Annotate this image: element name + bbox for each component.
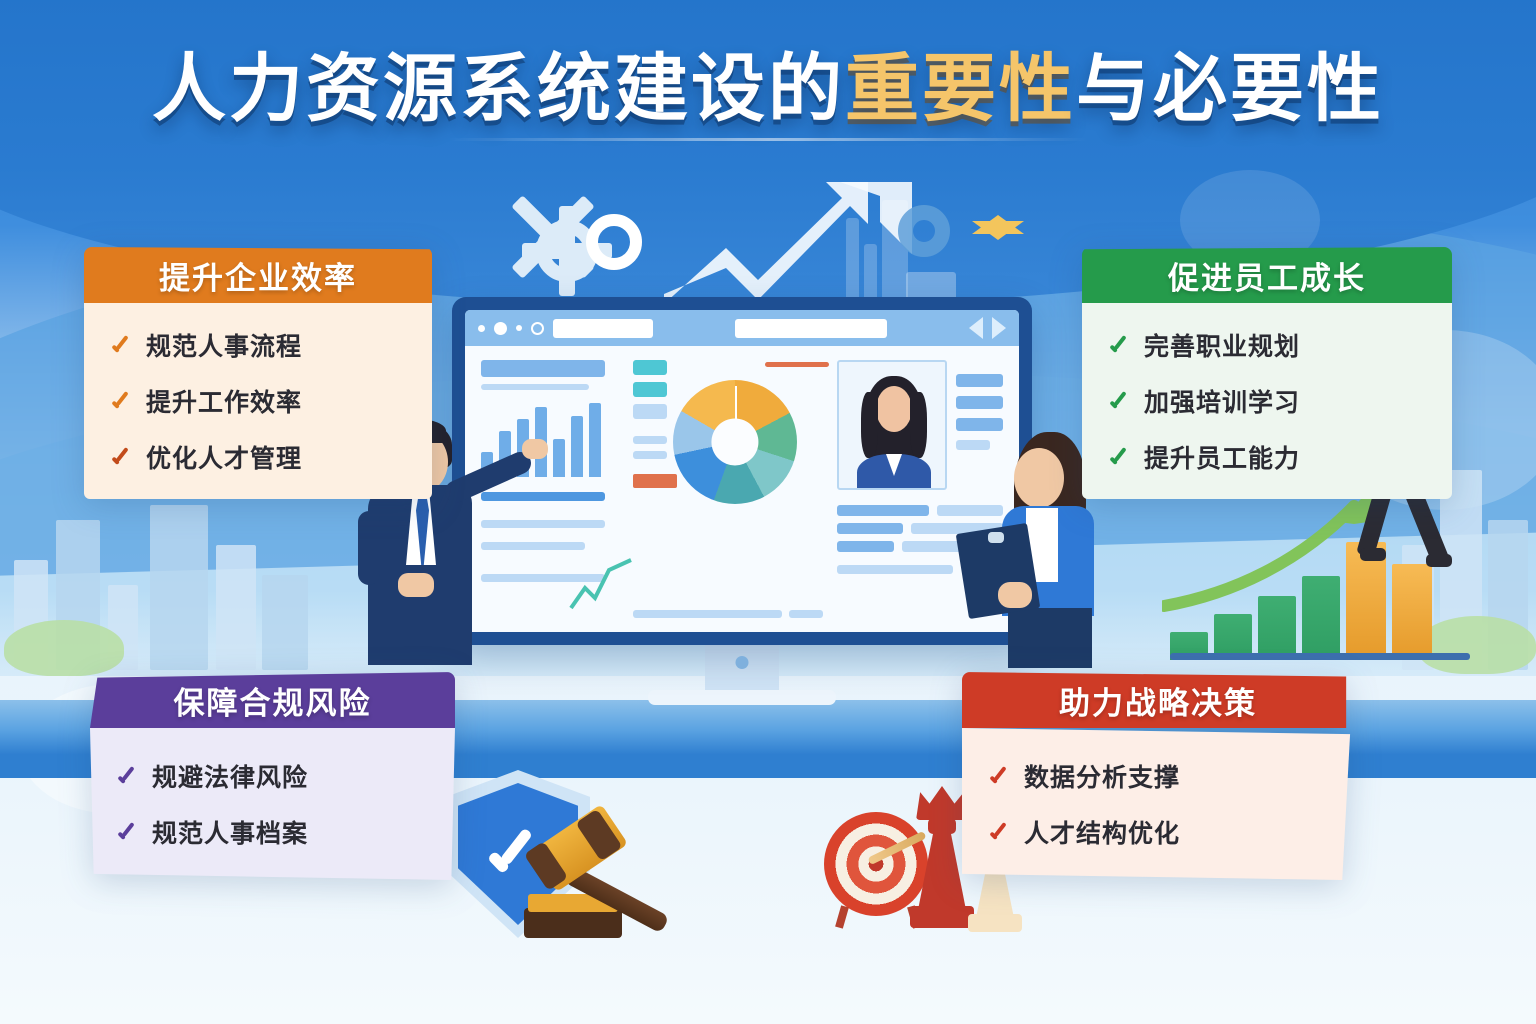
list-item-label: 优化人才管理 xyxy=(146,439,302,475)
card-body: 完善职业规划 加强培训学习 提升员工能力 xyxy=(1082,303,1452,499)
bush-shape xyxy=(4,620,124,676)
target-leg xyxy=(835,905,849,928)
growth-chart-floor xyxy=(1170,653,1470,660)
card-title: 促进员工成长 xyxy=(1168,253,1366,298)
card-bottom-right[interactable]: 助力战略决策 数据分析支撑 人才结构优化 xyxy=(962,672,1354,880)
check-icon xyxy=(1108,390,1130,412)
list-item-label: 提升员工能力 xyxy=(1144,439,1300,475)
card-top-right[interactable]: 促进员工成长 完善职业规划 加强培训学习 提升员工能力 xyxy=(1082,247,1452,499)
bar xyxy=(571,416,583,477)
title-part-2: 与必要性 xyxy=(1076,47,1384,130)
detail-row xyxy=(956,418,1003,431)
list-item-label: 规范人事流程 xyxy=(146,327,302,363)
list-item-label: 规避法律风险 xyxy=(152,758,308,794)
list-item[interactable]: 加强培训学习 xyxy=(1108,383,1426,419)
address-bar[interactable] xyxy=(553,319,653,338)
list-item[interactable]: 提升工作效率 xyxy=(110,383,406,419)
check-icon xyxy=(988,821,1010,843)
avatar-face xyxy=(876,386,912,432)
check-icon xyxy=(116,765,138,787)
chess-queen-neck xyxy=(928,818,956,834)
card-header: 提升企业效率 xyxy=(84,247,432,303)
chess-queen-base xyxy=(910,906,974,928)
card-body: 规范人事流程 提升工作效率 优化人才管理 xyxy=(84,303,432,499)
star-icon xyxy=(972,215,1024,234)
card-title: 保障合规风险 xyxy=(174,678,372,723)
man-pointing-arm xyxy=(442,449,535,507)
check-icon xyxy=(988,765,1010,787)
monitor-power-led xyxy=(736,656,749,669)
nav-forward-icon[interactable] xyxy=(992,317,1006,339)
list-item[interactable]: 规范人事档案 xyxy=(116,814,429,850)
employee-photo-card xyxy=(837,360,947,490)
chip xyxy=(633,436,667,444)
check-icon xyxy=(110,390,132,412)
list-item[interactable]: 数据分析支撑 xyxy=(988,758,1328,794)
list-item-label: 加强培训学习 xyxy=(1144,383,1300,419)
man-hand-pointing xyxy=(522,439,548,459)
card-title: 提升企业效率 xyxy=(159,253,357,298)
woman-skirt xyxy=(1008,608,1092,668)
title-block: 人力资源系统建设的重要性与必要性 xyxy=(0,52,1536,141)
footer-row xyxy=(633,610,782,618)
gear-icon xyxy=(508,192,598,282)
browser-toolbar[interactable] xyxy=(465,310,1019,346)
woman-hand xyxy=(998,582,1032,608)
ring-icon xyxy=(898,205,950,257)
monitor-base xyxy=(648,690,836,705)
window-dot-outline xyxy=(531,322,544,335)
window-dot xyxy=(516,325,522,331)
chess-queen-icon xyxy=(916,786,968,820)
dashboard-center-panel xyxy=(633,360,823,618)
table-row xyxy=(837,505,929,516)
chip xyxy=(633,474,677,488)
search-field[interactable] xyxy=(735,319,887,338)
runner-shoe xyxy=(1360,548,1386,561)
check-icon xyxy=(116,821,138,843)
man-hand-resting xyxy=(398,573,434,597)
list-item-label: 完善职业规划 xyxy=(1144,327,1300,363)
card-bottom-left[interactable]: 保障合规风险 规避法律风险 规范人事档案 xyxy=(90,672,455,880)
list-item-label: 人才结构优化 xyxy=(1024,814,1180,850)
window-dot xyxy=(494,322,507,335)
monitor-display xyxy=(452,297,1032,645)
monitor-screen xyxy=(465,310,1019,632)
target-dart-icon xyxy=(824,812,928,916)
check-icon xyxy=(110,446,132,468)
title-highlight: 重要性 xyxy=(845,47,1076,130)
table-row xyxy=(837,523,903,534)
bar xyxy=(553,439,565,477)
card-top-left[interactable]: 提升企业效率 规范人事流程 提升工作效率 优化人才管理 xyxy=(84,247,432,499)
list-item[interactable]: 人才结构优化 xyxy=(988,814,1328,850)
chess-pawn-base xyxy=(968,914,1022,932)
chip xyxy=(633,404,667,419)
donut-pointer xyxy=(735,386,737,438)
card-header: 保障合规风险 xyxy=(90,672,455,728)
detail-row xyxy=(956,374,1003,387)
growth-bar xyxy=(1302,576,1340,660)
card-body: 数据分析支撑 人才结构优化 xyxy=(962,728,1354,880)
list-item-label: 规范人事档案 xyxy=(152,814,308,850)
woman-head xyxy=(1014,448,1064,508)
list-item[interactable]: 规范人事流程 xyxy=(110,327,406,363)
panel-subtitle-bar xyxy=(481,384,589,390)
bar xyxy=(589,403,601,477)
dashboard-body xyxy=(465,346,1019,632)
list-item-label: 提升工作效率 xyxy=(146,383,302,419)
compliance-illustration xyxy=(440,768,700,943)
table-row xyxy=(837,541,894,552)
chip xyxy=(633,360,667,375)
window-dot xyxy=(478,325,485,332)
growth-bar xyxy=(1258,596,1296,660)
card-body: 规避法律风险 规范人事档案 xyxy=(90,728,455,880)
infographic-canvas: 人力资源系统建设的重要性与必要性 xyxy=(0,0,1536,1024)
list-item[interactable]: 规避法律风险 xyxy=(116,758,429,794)
title-part-1: 人力资源系统建设的 xyxy=(152,47,845,130)
footer-row xyxy=(789,610,823,618)
card-title: 助力战略决策 xyxy=(1059,678,1257,723)
gavel-sound-block xyxy=(524,908,622,938)
runner-shoe xyxy=(1426,554,1452,567)
city-building xyxy=(262,575,308,670)
man-resting-arm xyxy=(358,511,380,585)
detail-row xyxy=(956,396,1003,409)
list-item[interactable]: 提升员工能力 xyxy=(1108,439,1426,475)
monitor-neck xyxy=(705,645,779,693)
dashboard-donut-chart xyxy=(673,380,797,504)
table-row xyxy=(837,565,953,574)
nav-back-icon[interactable] xyxy=(969,317,983,339)
card-header: 助力战略决策 xyxy=(962,672,1354,728)
sparkline-icon xyxy=(569,558,633,612)
list-item-label: 数据分析支撑 xyxy=(1024,758,1180,794)
chip xyxy=(633,451,667,459)
check-icon xyxy=(1108,334,1130,356)
chip xyxy=(633,382,667,397)
avatar-hair-side xyxy=(861,392,878,458)
city-building xyxy=(150,505,208,670)
city-building xyxy=(216,545,256,670)
title-underline xyxy=(448,138,1088,141)
legend-chips xyxy=(633,360,667,504)
page-title: 人力资源系统建设的重要性与必要性 xyxy=(0,52,1536,126)
panel-title-bar xyxy=(481,360,605,377)
check-icon xyxy=(110,334,132,356)
list-item[interactable]: 完善职业规划 xyxy=(1108,327,1426,363)
accent-bar xyxy=(765,362,829,367)
clipboard-clip xyxy=(988,532,1004,543)
avatar-hair-side xyxy=(910,392,927,458)
card-header: 促进员工成长 xyxy=(1082,247,1452,303)
list-item[interactable]: 优化人才管理 xyxy=(110,439,406,475)
check-icon xyxy=(1108,446,1130,468)
growth-bar xyxy=(1392,564,1432,660)
